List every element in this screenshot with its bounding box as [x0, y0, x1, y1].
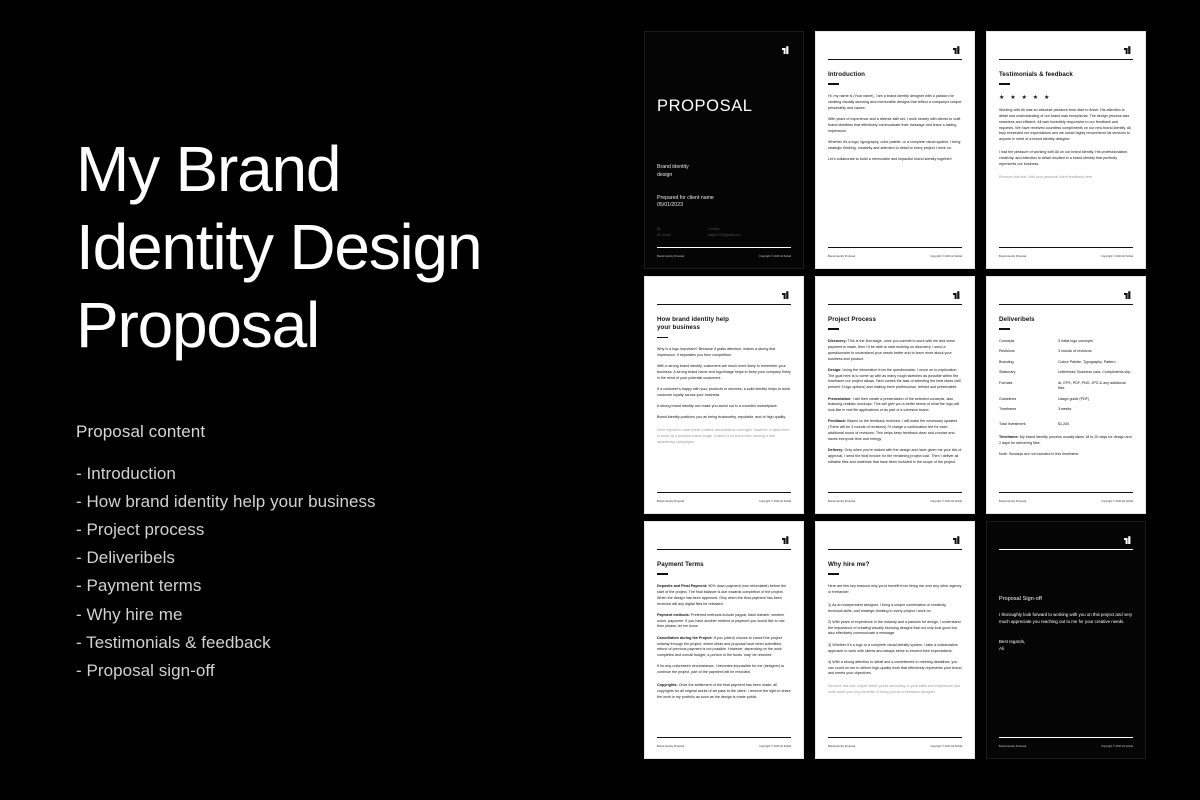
table-row: Formats AI, EPS, PDF, PNG, JPG & any add… [999, 381, 1133, 393]
list-item: - Proposal sign-off [76, 656, 596, 684]
logo-mark-icon [1121, 289, 1133, 302]
terms-label: Deposits and Final Payment: [657, 584, 707, 588]
page-footer: Brand Identity Proposal Copyright © 2023… [999, 247, 1133, 258]
paragraph: Let's collaborate to build a memorable a… [828, 157, 962, 163]
page-footer: Brand Identity Proposal Copyright © 2023… [999, 737, 1133, 748]
table-cell-value: AI, EPS, PDF, PNG, JPG & any additional … [1058, 381, 1133, 393]
footer-left: Brand Identity Proposal [828, 745, 855, 748]
page-thumbnail-deliverables[interactable]: Deliveribels Concepts 3 initial logo con… [987, 277, 1145, 513]
title-underline [999, 83, 1010, 84]
terms-section: Copyrights: Once the settlement of the f… [657, 683, 791, 701]
footer-right: Copyright © 2023 Ali Sohail [930, 255, 962, 258]
total-investment-label: Total Investment [999, 422, 1058, 428]
terms-text: Once the settlement of the final payment… [657, 683, 791, 699]
paragraph: Why is a logo important? Because it grab… [657, 347, 791, 359]
footer-left: Brand Identity Proposal [999, 500, 1026, 503]
process-step-label: Design: [828, 368, 842, 372]
table-row: Guidelines Usage guide (PDF) [999, 397, 1133, 403]
title-underline [828, 328, 839, 329]
timeframe-note: Timeframe: My brand identity process usu… [999, 435, 1133, 447]
logo-mark-icon [950, 44, 962, 57]
page-body: Why hire me? Here are few key reasons wh… [828, 550, 962, 737]
paragraph: Working with Ali was an absolute pleasur… [999, 108, 1133, 144]
process-step-text: Based on the feedback received, I will m… [828, 419, 957, 441]
table-cell-key: Stationary [999, 370, 1058, 376]
footer-rule [999, 737, 1133, 738]
process-step-text: This is the first stage, once you commit… [828, 339, 955, 361]
footer-rule [657, 492, 791, 493]
process-step-label: Delivery: [828, 448, 844, 452]
process-step: Discovery: This is the first stage, once… [828, 339, 962, 363]
footer-rule [999, 247, 1133, 248]
timeframe-label: Timeframe: [999, 435, 1019, 439]
paragraph: A strong brand identity can make you sta… [657, 404, 791, 410]
cover-meta: By Ali Sohail Contact aagha733@gmail.com [657, 227, 791, 238]
footer-rule [828, 492, 962, 493]
page-body: Proposal Sign-off I thoroughly look forw… [999, 550, 1133, 737]
page-body: Payment Terms Deposits and Final Payment… [657, 550, 791, 737]
table-cell-key: Guidelines [999, 397, 1058, 403]
page-thumbnail-grid: PROPOSAL Brand identity design Prepared … [645, 32, 1157, 764]
logo-mark-icon [779, 289, 791, 302]
logo-mark-icon [779, 534, 791, 547]
footer-left: Brand Identity Proposal [657, 500, 684, 503]
page-header [999, 535, 1133, 550]
page-footer: Brand Identity Proposal Copyright © 2023… [657, 737, 791, 748]
table-cell-value: 3 rounds of revisions [1058, 349, 1133, 355]
table-row: Stationary Letterhead, Business card, Co… [999, 370, 1133, 376]
terms-section: Deposits and Final Payment: 50% down pay… [657, 584, 791, 608]
placeholder-text: Remove this text. Adjust these points ac… [828, 684, 962, 696]
reason-item: 3) Whether it's a logo or a complete vis… [828, 643, 962, 655]
page-footer: Brand Identity Proposal Copyright © 2023… [828, 737, 962, 748]
footer-rule [657, 247, 791, 248]
table-cell-value: Usage guide (PDF) [1058, 397, 1133, 403]
page-thumbnail-payment-terms[interactable]: Payment Terms Deposits and Final Payment… [645, 522, 803, 758]
process-step: Design: Using the information from the q… [828, 368, 962, 392]
paragraph: With a strong brand identity, customers … [657, 364, 791, 382]
title-underline [657, 337, 668, 338]
page-body: Deliveribels Concepts 3 initial logo con… [999, 305, 1133, 492]
table-cell-key: Revisions [999, 349, 1058, 355]
table-row-total: Total Investment $1,200 [999, 422, 1133, 428]
footer-rule [657, 737, 791, 738]
logo-mark-icon [1121, 44, 1133, 57]
terms-section: If for any unforeseen circumstance, I be… [657, 664, 791, 676]
footer-rule [828, 247, 962, 248]
page-thumbnail-sign-off[interactable]: Proposal Sign-off I thoroughly look forw… [987, 522, 1145, 758]
section-title: Testimonials & feedback [999, 71, 1133, 79]
title-underline [828, 83, 839, 84]
process-step-text: Using the information from the questionn… [828, 368, 961, 390]
header-rule [828, 304, 962, 305]
paragraph: If a customer's happy with your products… [657, 387, 791, 399]
table-cell-key: Timeframe [999, 407, 1058, 413]
page-header [828, 45, 962, 60]
process-step-text: Only when you're stoked with the design … [828, 448, 961, 464]
paragraph: Here are few key reasons why you'd benef… [828, 584, 962, 596]
deliverables-note: Note: Sundays are not included in this t… [999, 452, 1133, 458]
page-footer: Brand Identity Proposal Copyright © 2023… [657, 492, 791, 503]
page-title: My Brand Identity Design Proposal [76, 130, 590, 364]
table-cell-value: 3 weeks [1058, 407, 1133, 413]
list-item: - Introduction [76, 460, 596, 488]
footer-right: Copyright © 2023 Ali Sohail [1101, 255, 1133, 258]
page-footer: Brand Identity Proposal Copyright © 2023… [828, 492, 962, 503]
process-step: Presentation: I will then create a prese… [828, 397, 962, 415]
paragraph: With years of experience and a diverse s… [828, 117, 962, 135]
cover-by-value: Ali Sohail [657, 233, 708, 239]
logo-mark-icon [950, 534, 962, 547]
reason-item: 4) With a strong attention to detail and… [828, 660, 962, 678]
page-thumbnail-testimonials[interactable]: Testimonials & feedback ★ ★ ★ ★ ★ Workin… [987, 32, 1145, 268]
reason-item: 1) As an independent designer, I bring a… [828, 603, 962, 615]
table-cell-value: Colour Palette, Typography, Pattern. [1058, 360, 1133, 366]
footer-right: Copyright © 2023 Ali Sohail [759, 500, 791, 503]
footer-left: Brand Identity Proposal [657, 255, 684, 258]
table-cell-key: Formats [999, 381, 1058, 393]
cover-contact: Contact aagha733@gmail.com [708, 227, 741, 238]
section-title: Payment Terms [657, 561, 791, 569]
footer-right: Copyright © 2023 Ali Sohail [1101, 500, 1133, 503]
header-rule [999, 549, 1133, 550]
header-rule [828, 549, 962, 550]
list-item: - Testimonials & feedback [76, 628, 596, 656]
process-step-label: Feedback: [828, 419, 846, 423]
page-footer: Brand Identity Proposal Copyright © 2023… [657, 247, 791, 258]
header-rule [657, 549, 791, 550]
section-title: Introduction [828, 71, 962, 79]
terms-label: Payment methods: [657, 613, 690, 617]
title-underline [828, 573, 839, 574]
process-step: Delivery: Only when you're stoked with t… [828, 448, 962, 466]
footer-right: Copyright © 2023 Ali Sohail [759, 255, 791, 258]
placeholder-text: Don't expect to have these positive asso… [657, 428, 791, 446]
header-rule [657, 304, 791, 305]
footer-right: Copyright © 2023 Ali Sohail [930, 500, 962, 503]
page-thumbnail-project-process[interactable]: Project Process Discovery: This is the f… [816, 277, 974, 513]
footer-rule [828, 737, 962, 738]
placeholder-text: Remove this text. Add your personal clie… [999, 175, 1133, 181]
deliverables-table: Concepts 3 initial logo concepts Revisio… [999, 339, 1133, 428]
page-thumbnail-introduction[interactable]: Introduction Hi, my name is (Your name),… [816, 32, 974, 268]
table-row: Revisions 3 rounds of revisions [999, 349, 1133, 355]
terms-text: If for any unforeseen circumstance, I be… [657, 664, 784, 674]
page-footer: Brand Identity Proposal Copyright © 2023… [999, 492, 1133, 503]
page-body: How brand identity help your business Wh… [657, 305, 791, 492]
page-body: Testimonials & feedback ★ ★ ★ ★ ★ Workin… [999, 60, 1133, 247]
footer-left: Brand Identity Proposal [999, 255, 1026, 258]
table-cell-key: Branding [999, 360, 1058, 366]
terms-section: Cancellation during the Project: If you … [657, 636, 791, 660]
page-header [999, 290, 1133, 305]
page-body: PROPOSAL Brand identity design Prepared … [657, 60, 791, 247]
page-body: Project Process Discovery: This is the f… [828, 305, 962, 492]
header-rule [999, 304, 1133, 305]
footer-left: Brand Identity Proposal [828, 500, 855, 503]
cover-title: PROPOSAL [657, 97, 791, 116]
page-footer: Brand Identity Proposal Copyright © 2023… [828, 247, 962, 258]
proposal-content-list: - Introduction - How brand identity help… [76, 460, 596, 684]
page-header [657, 45, 791, 60]
cover-by: By Ali Sohail [657, 227, 708, 238]
paragraph: Whether it's a logo, typography, color p… [828, 140, 962, 152]
process-step-label: Discovery: [828, 339, 847, 343]
cover-contact-value: aagha733@gmail.com [708, 233, 741, 239]
logo-mark-icon [779, 44, 791, 57]
proposal-content-block: Proposal content - Introduction - How br… [76, 422, 596, 684]
table-row: Concepts 3 initial logo concepts [999, 339, 1133, 345]
table-cell-value: 3 initial logo concepts [1058, 339, 1133, 345]
header-rule [999, 59, 1133, 60]
header-rule [828, 59, 962, 60]
process-step-label: Presentation: [828, 397, 852, 401]
page-header [657, 290, 791, 305]
process-step: Feedback: Based on the feedback received… [828, 419, 962, 443]
list-item: - How brand identity help your business [76, 488, 596, 516]
list-item: - Payment terms [76, 572, 596, 600]
list-item: - Why hire me [76, 600, 596, 628]
star-rating-icon: ★ ★ ★ ★ ★ [999, 94, 1133, 101]
regards: Best regards, Ali [999, 638, 1133, 652]
list-item: - Project process [76, 516, 596, 544]
page-thumbnail-why-hire-me[interactable]: Why hire me? Here are few key reasons wh… [816, 522, 974, 758]
proposal-content-heading: Proposal content [76, 422, 596, 442]
logo-mark-icon [950, 289, 962, 302]
table-cell-key: Concepts [999, 339, 1058, 345]
section-title: Project Process [828, 316, 962, 324]
table-row: Branding Colour Palette, Typography, Pat… [999, 360, 1133, 366]
footer-left: Brand Identity Proposal [657, 745, 684, 748]
title-underline [657, 573, 668, 574]
section-title: How brand identity help your business [657, 316, 791, 333]
section-title: Proposal Sign-off [999, 596, 1133, 602]
footer-left: Brand Identity Proposal [828, 255, 855, 258]
table-row: Timeframe 3 weeks [999, 407, 1133, 413]
logo-mark-icon [1121, 534, 1133, 547]
footer-right: Copyright © 2023 Ali Sohail [1101, 745, 1133, 748]
footer-left: Brand Identity Proposal [999, 745, 1026, 748]
page-thumbnail-cover[interactable]: PROPOSAL Brand identity design Prepared … [645, 32, 803, 268]
paragraph: I had the pleasure of working with Ali o… [999, 150, 1133, 168]
terms-label: Cancellation during the Project: [657, 636, 713, 640]
page-body: Introduction Hi, my name is (Your name),… [828, 60, 962, 247]
total-investment-value: $1,200 [1058, 422, 1133, 428]
page-header [828, 535, 962, 550]
page-header [828, 290, 962, 305]
page-header [657, 535, 791, 550]
page-thumbnail-brand-identity[interactable]: How brand identity help your business Wh… [645, 277, 803, 513]
paragraph: I thoroughly look forward to working wit… [999, 611, 1133, 625]
paragraph: Hi, my name is (Your name), I am a brand… [828, 94, 962, 112]
timeframe-text: My brand identity process usually takes … [999, 435, 1132, 445]
reason-item: 2) With years of experience in the indus… [828, 620, 962, 638]
paragraph: Brand identity positions you as being tr… [657, 415, 791, 421]
footer-right: Copyright © 2023 Ali Sohail [930, 745, 962, 748]
list-item: - Deliveribels [76, 544, 596, 572]
title-underline [999, 328, 1010, 329]
footer-right: Copyright © 2023 Ali Sohail [759, 745, 791, 748]
cover-prepared-for: Prepared for client name 05/01/2023 [657, 195, 791, 211]
section-title: Why hire me? [828, 561, 962, 569]
footer-rule [999, 492, 1133, 493]
table-cell-value: Letterhead, Business card, Compliments s… [1058, 370, 1133, 376]
terms-label: Copyrights: [657, 683, 678, 687]
page-header [999, 45, 1133, 60]
section-title: Deliveribels [999, 316, 1133, 324]
cover-subtitle: Brand identity design [657, 164, 791, 180]
terms-section: Payment methods: Preferred methods inclu… [657, 613, 791, 631]
